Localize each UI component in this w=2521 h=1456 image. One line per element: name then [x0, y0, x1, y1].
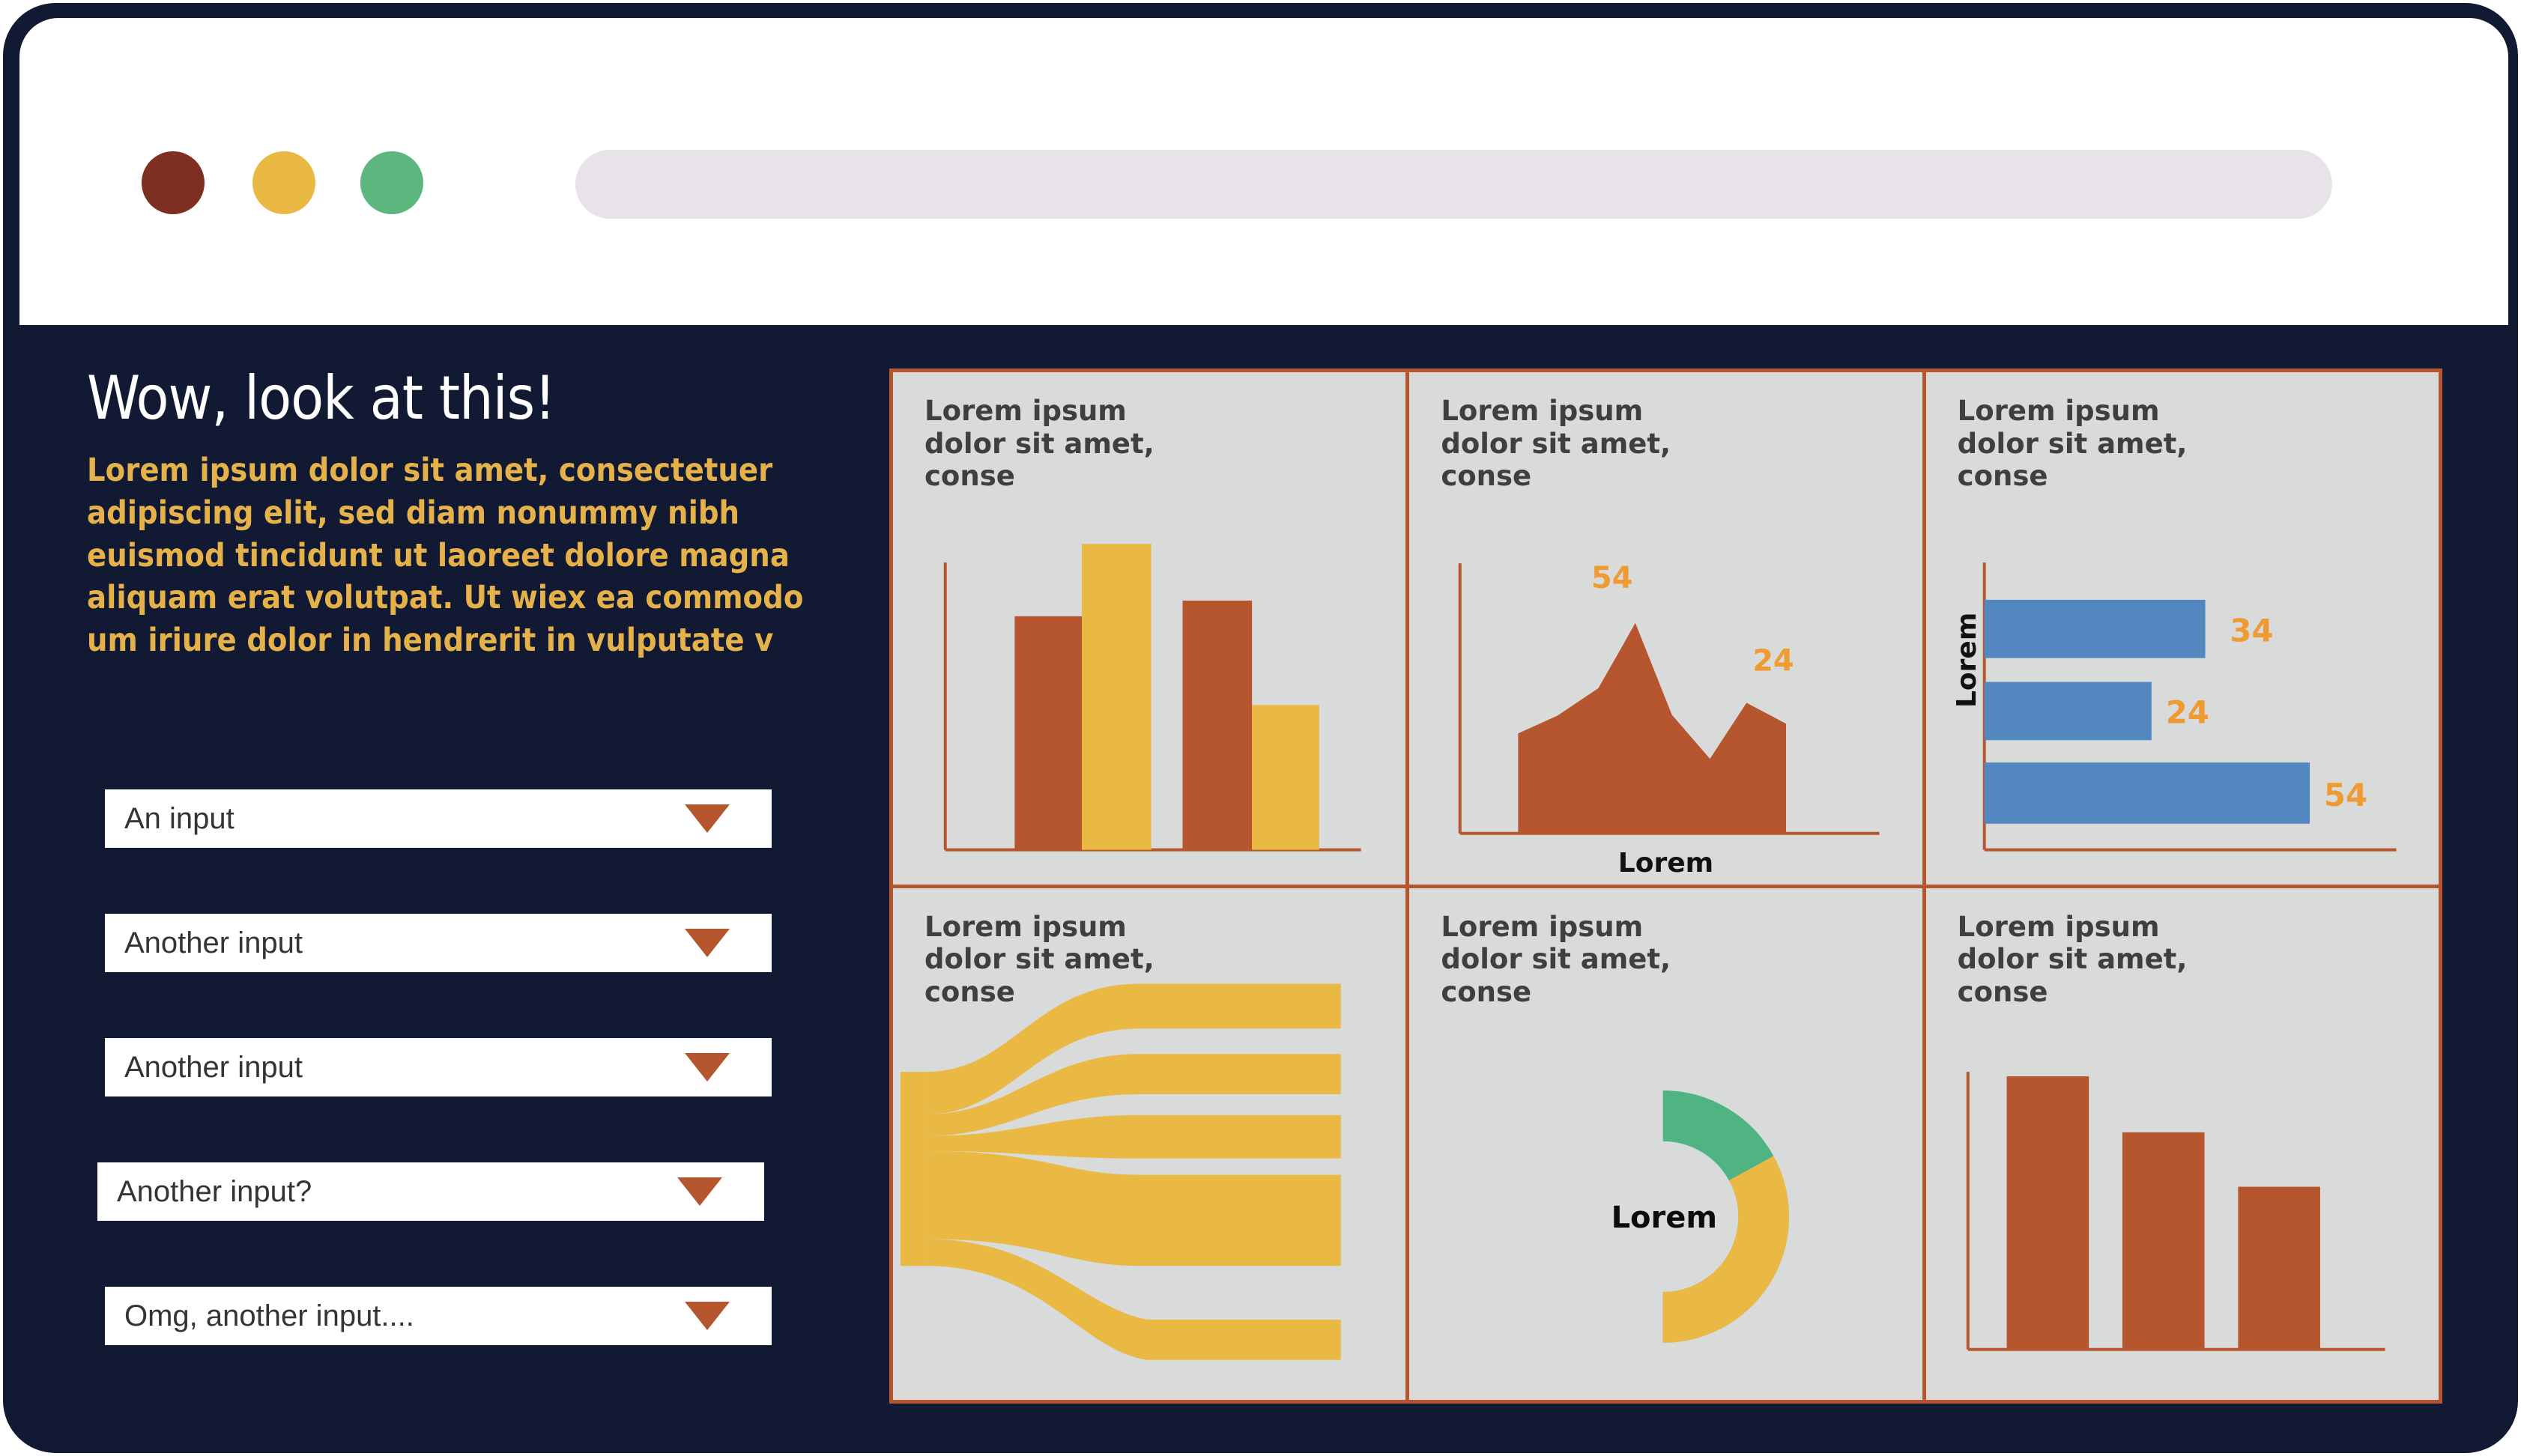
hbar-1 — [1984, 600, 2205, 658]
data-label-24: 24 — [2165, 694, 2209, 730]
panel-vertical-bar-chart[interactable]: Lorem ipsum dolor sit amet, conse — [893, 372, 1405, 885]
bar-1 — [2006, 1076, 2089, 1350]
traffic-light-close-icon[interactable] — [142, 151, 205, 214]
page-title: Wow, look at this! — [87, 368, 866, 428]
dropdown-another-input-2[interactable]: Another input — [105, 1038, 772, 1096]
dropdown-label: Omg, another input.... — [105, 1299, 414, 1333]
bar-3 — [2238, 1186, 2320, 1349]
dropdown-label: An input — [105, 802, 234, 836]
browser-window-frame: Wow, look at this! Lorem ipsum dolor sit… — [3, 3, 2518, 1453]
bar-1 — [1014, 616, 1082, 850]
panel-sankey-diagram[interactable]: Lorem ipsum dolor sit amet, conse — [893, 888, 1405, 1401]
intro-paragraph: Lorem ipsum dolor sit amet, consectetuer… — [87, 449, 825, 662]
chevron-down-icon — [677, 1177, 722, 1206]
sankey-link-1 — [926, 983, 1341, 1114]
bar-2 — [2122, 1132, 2205, 1349]
data-label-24: 24 — [1753, 644, 1794, 679]
vertical-bar-chart — [893, 372, 1405, 885]
panel-horizontal-bar-chart[interactable]: Lorem ipsum dolor sit amet, conse 34 24 … — [1926, 372, 2439, 885]
horizontal-bar-chart: 34 24 54 — [1926, 372, 2439, 885]
panel-area-chart[interactable]: Lorem ipsum dolor sit amet, conse 54 24 … — [1409, 372, 1922, 885]
dropdown-another-input-1[interactable]: Another input — [105, 914, 772, 972]
sankey-source-node — [901, 1072, 926, 1266]
screenshot-root: Wow, look at this! Lorem ipsum dolor sit… — [0, 0, 2521, 1456]
traffic-light-maximize-icon[interactable] — [360, 151, 423, 214]
dropdown-label: Another input — [105, 1051, 303, 1085]
sankey-diagram — [893, 888, 1405, 1401]
panel-donut-chart[interactable]: Lorem ipsum dolor sit amet, conse Lorem — [1409, 888, 1922, 1401]
chevron-down-icon — [685, 929, 730, 957]
bar-2 — [1082, 544, 1151, 850]
area-series-shape — [1519, 623, 1787, 834]
dropdown-label: Another input — [105, 926, 303, 960]
dropdown-an-input[interactable]: An input — [105, 789, 772, 848]
hbar-3 — [1984, 762, 2309, 824]
bar-3 — [1182, 601, 1252, 850]
browser-chrome-bar — [19, 18, 2508, 325]
descending-bar-chart — [1926, 888, 2439, 1401]
dropdown-another-input-question[interactable]: Another input? — [97, 1162, 764, 1221]
traffic-light-minimize-icon[interactable] — [252, 151, 315, 214]
dashboard-grid: Lorem ipsum dolor sit amet, conse Lorem … — [889, 368, 2442, 1404]
y-axis-label: Lorem — [1952, 613, 1982, 708]
dropdown-omg-another-input[interactable]: Omg, another input.... — [105, 1287, 772, 1345]
area-chart: 54 24 — [1409, 372, 1922, 885]
address-bar-input[interactable] — [575, 150, 2332, 219]
filter-form: An input Another input Another input Ano… — [87, 789, 866, 1411]
donut-chart — [1409, 888, 1922, 1401]
chevron-down-icon — [685, 1053, 730, 1082]
data-label-34: 34 — [2230, 613, 2273, 649]
x-axis-label: Lorem — [1618, 848, 1713, 879]
donut-center-label: Lorem — [1611, 1201, 1718, 1235]
bar-4 — [1252, 705, 1319, 849]
data-label-54: 54 — [1591, 561, 1632, 595]
hbar-2 — [1984, 682, 2151, 740]
panel-descending-bar-chart[interactable]: Lorem ipsum dolor sit amet, conse — [1926, 888, 2439, 1401]
dropdown-label: Another input? — [97, 1175, 312, 1209]
chevron-down-icon — [685, 1302, 730, 1330]
sidebar: Wow, look at this! Lorem ipsum dolor sit… — [87, 368, 866, 662]
data-label-54: 54 — [2324, 777, 2367, 813]
app-body: Wow, look at this! Lorem ipsum dolor sit… — [19, 327, 2508, 1440]
chevron-down-icon — [685, 804, 730, 833]
